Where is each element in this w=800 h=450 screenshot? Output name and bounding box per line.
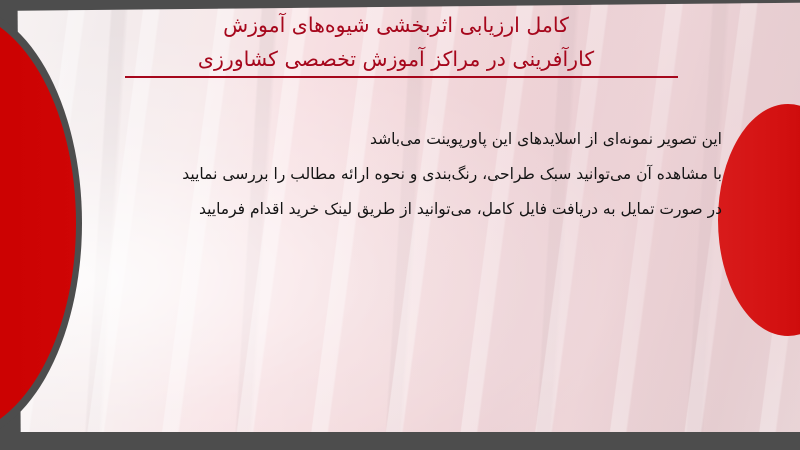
slide-body-text: این تصویر نمونه‌ای از اسلایدهای این پاور… [60,122,722,227]
title-underline-rule [125,76,678,78]
slide-title: کامل ارزیابی اثربخشی شیوه‌های آموزش کارآ… [40,8,752,76]
slide-bottom-band [0,432,800,450]
presentation-slide: کامل ارزیابی اثربخشی شیوه‌های آموزش کارآ… [0,0,800,450]
slide-title-line-2: کارآفرینی در مراکز آموزش تخصصی کشاورزی [40,42,752,76]
body-line-2: با مشاهده آن می‌توانید سبک طراحی، رنگ‌بن… [60,157,722,192]
slide-title-line-1: کامل ارزیابی اثربخشی شیوه‌های آموزش [40,8,752,42]
body-line-1: این تصویر نمونه‌ای از اسلایدهای این پاور… [60,122,722,157]
body-line-3: در صورت تمایل به دریافت فایل کامل، می‌تو… [60,192,722,227]
